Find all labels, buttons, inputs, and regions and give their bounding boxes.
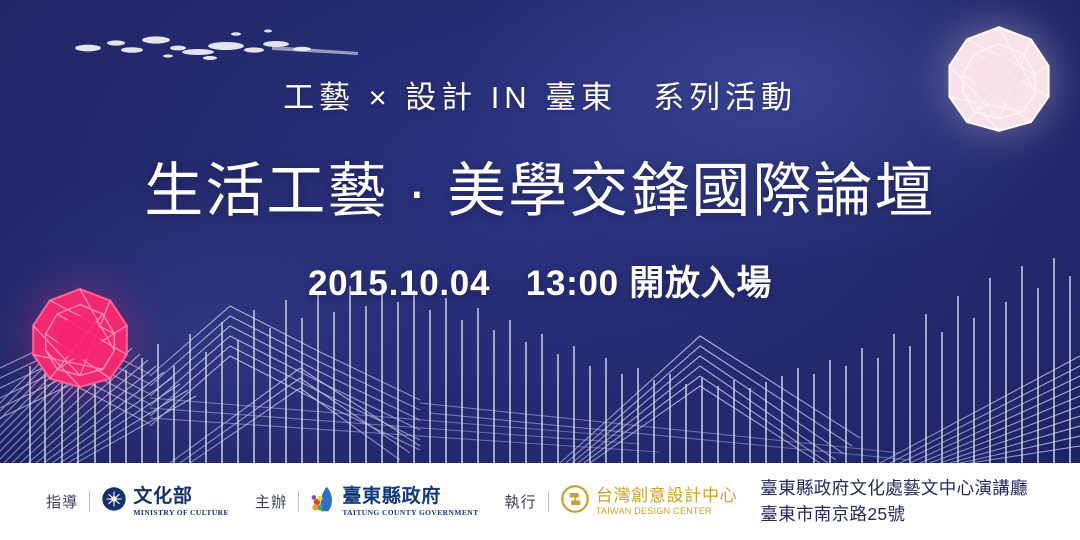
taiwan-design-center-emblem-icon bbox=[560, 484, 590, 519]
event-poster: 工藝 × 設計 IN 臺東 系列活動 生活工藝 · 美學交鋒國際論壇 2015.… bbox=[0, 0, 1080, 540]
credit-taitung-county-government: 主辦 臺東縣政府 bbox=[255, 485, 479, 518]
poster-eyebrow: 工藝 × 設計 IN 臺東 系列活動 bbox=[0, 72, 1080, 117]
ministry-of-culture-wordmark: 文化部 MINISTRY OF CULTURE bbox=[133, 487, 229, 517]
poster-background: 工藝 × 設計 IN 臺東 系列活動 生活工藝 · 美學交鋒國際論壇 2015.… bbox=[0, 0, 1080, 463]
logo-name-cn: 台灣創意設計中心 bbox=[596, 487, 737, 504]
venue-address: 臺東縣政府文化處藝文中心演講廳 臺東市南京路25號 bbox=[760, 476, 1080, 527]
credit-divider bbox=[298, 491, 299, 512]
logo-name-en: MINISTRY OF CULTURE bbox=[133, 509, 229, 517]
taiwan-design-center-logo: 台灣創意設計中心 TAIWAN DESIGN CENTER bbox=[560, 484, 737, 519]
ministry-of-culture-logo: 文化部 MINISTRY OF CULTURE bbox=[101, 486, 229, 517]
logo-name-en: TAIWAN DESIGN CENTER bbox=[596, 507, 737, 516]
star-cloud-streak-icon bbox=[40, 22, 360, 68]
credit-role-label: 主辦 bbox=[255, 491, 287, 512]
ministry-of-culture-emblem-icon bbox=[101, 486, 127, 517]
taiwan-design-center-wordmark: 台灣創意設計中心 TAIWAN DESIGN CENTER bbox=[596, 487, 737, 516]
venue-line-1: 臺東縣政府文化處藝文中心演講廳 bbox=[760, 476, 1028, 501]
credit-divider bbox=[548, 491, 549, 512]
credit-divider bbox=[89, 491, 90, 512]
taitung-county-sail-emblem-icon bbox=[310, 485, 336, 518]
poster-footer: 指導 文化部 bbox=[0, 463, 1080, 540]
credit-ministry-of-culture: 指導 文化部 bbox=[46, 486, 229, 517]
logo-name-cn: 文化部 bbox=[133, 487, 229, 506]
credit-role-label: 指導 bbox=[46, 491, 78, 512]
poster-dateline: 2015.10.04 13:00 開放入場 bbox=[0, 255, 1080, 306]
taitung-county-government-wordmark: 臺東縣政府 TAITUNG COUNTY GOVERNMENT bbox=[342, 487, 478, 517]
poster-headline: 生活工藝 · 美學交鋒國際論壇 bbox=[0, 143, 1080, 228]
credits-row: 指導 文化部 bbox=[0, 484, 737, 519]
credit-role-label: 執行 bbox=[504, 491, 536, 512]
logo-name-en: TAITUNG COUNTY GOVERNMENT bbox=[342, 509, 478, 517]
venue-line-2: 臺東市南京路25號 bbox=[760, 502, 1028, 527]
credit-taiwan-design-center: 執行 台灣創意設計中心 TAIWAN DESIGN CENTER bbox=[504, 484, 737, 519]
logo-name-cn: 臺東縣政府 bbox=[342, 487, 478, 506]
taitung-county-government-logo: 臺東縣政府 TAITUNG COUNTY GOVERNMENT bbox=[310, 485, 478, 518]
